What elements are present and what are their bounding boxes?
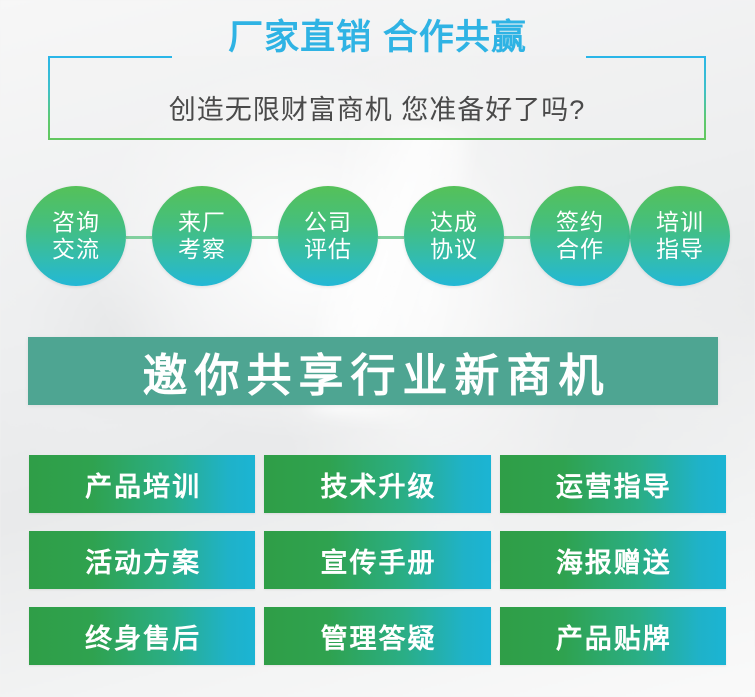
step-circle-3[interactable]: 公司 评估 xyxy=(278,186,378,286)
service-button[interactable]: 宣传手册 xyxy=(264,531,490,589)
step-connector xyxy=(378,236,404,239)
step-label-line1: 培训 xyxy=(656,209,704,236)
process-steps: 咨询 交流 来厂 考察 公司 评估 达成 协议 签约 合作 培训 指导 xyxy=(0,186,755,288)
step-label-line2: 指导 xyxy=(656,236,704,263)
page-title: 厂家直销 合作共赢 xyxy=(0,20,755,55)
service-button[interactable]: 海报赠送 xyxy=(500,531,726,589)
step-connector xyxy=(252,236,278,239)
step-label-line2: 考察 xyxy=(178,236,226,263)
service-button[interactable]: 技术升级 xyxy=(264,455,490,513)
invitation-banner: 邀你共享行业新商机 xyxy=(28,337,718,405)
step-label-line2: 合作 xyxy=(556,236,604,263)
step-circle-2[interactable]: 来厂 考察 xyxy=(152,186,252,286)
service-button[interactable]: 活动方案 xyxy=(29,531,255,589)
step-label-line1: 达成 xyxy=(430,209,478,236)
step-circle-6[interactable]: 培训 指导 xyxy=(630,186,730,286)
page-subtitle: 创造无限财富商机 您准备好了吗? xyxy=(48,88,706,127)
step-label-line1: 来厂 xyxy=(178,209,226,236)
step-connector xyxy=(126,236,152,239)
step-label-line2: 交流 xyxy=(52,236,100,263)
step-circle-1[interactable]: 咨询 交流 xyxy=(26,186,126,286)
header-frame-top-left-rule xyxy=(48,56,172,58)
service-button[interactable]: 产品贴牌 xyxy=(500,607,726,665)
step-label-line2: 评估 xyxy=(304,236,352,263)
promo-page: 厂家直销 合作共赢 创造无限财富商机 您准备好了吗? 咨询 交流 来厂 考察 公… xyxy=(0,0,755,697)
step-connector xyxy=(504,236,530,239)
step-circle-5[interactable]: 签约 合作 xyxy=(530,186,630,286)
service-button[interactable]: 产品培训 xyxy=(29,455,255,513)
service-button[interactable]: 管理答疑 xyxy=(264,607,490,665)
step-label-line1: 公司 xyxy=(304,209,352,236)
step-label-line2: 协议 xyxy=(430,236,478,263)
service-button[interactable]: 终身售后 xyxy=(29,607,255,665)
service-grid: 产品培训 技术升级 运营指导 活动方案 宣传手册 海报赠送 终身售后 管理答疑 … xyxy=(29,455,726,665)
header-frame-top-right-rule xyxy=(586,56,706,58)
step-label-line1: 咨询 xyxy=(52,209,100,236)
header-frame-bottom-edge xyxy=(48,138,706,140)
step-label-line1: 签约 xyxy=(556,209,604,236)
service-button[interactable]: 运营指导 xyxy=(500,455,726,513)
step-circle-4[interactable]: 达成 协议 xyxy=(404,186,504,286)
